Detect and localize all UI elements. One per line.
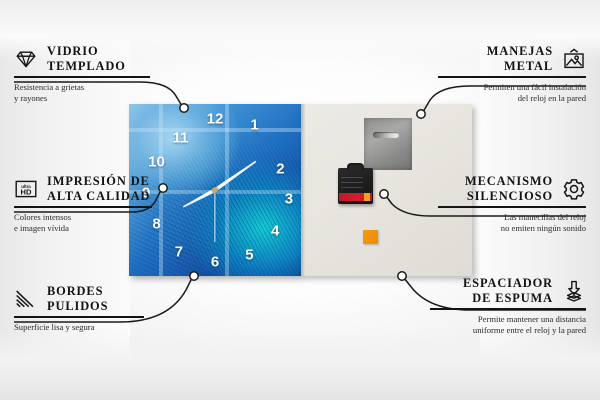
foam-spacer	[363, 230, 378, 244]
clock-numeral-6: 6	[211, 255, 219, 270]
callout-rule	[438, 76, 586, 78]
callout-title: ESPACIADOR DE ESPUMA	[463, 276, 553, 305]
background-bottom-shade	[0, 330, 600, 400]
callout-rule	[14, 76, 150, 78]
clock-numeral-1: 1	[250, 118, 258, 133]
callout-subtitle: Resistencia a grietas y rayones	[14, 82, 154, 105]
movement-label	[339, 193, 372, 201]
callout-mecanismo-silencioso: MECANISMO SILENCIOSO Las manecillas del …	[438, 174, 586, 235]
callout-rule	[430, 308, 586, 310]
metal-hanger-plate	[364, 118, 412, 170]
quartz-movement	[338, 168, 373, 204]
panel-edge	[301, 104, 305, 276]
clock-numeral-5: 5	[245, 248, 253, 263]
callout-title: MECANISMO SILENCIOSO	[465, 174, 553, 203]
movement-hook	[347, 163, 364, 170]
callout-title: BORDES PULIDOS	[47, 284, 108, 313]
callout-title: MANEJAS METAL	[487, 44, 553, 73]
framed-picture-hanger-icon	[562, 47, 586, 71]
callout-subtitle: Permite mantener una distancia uniforme …	[430, 314, 586, 337]
callout-vidrio-templado: VIDRIO TEMPLADO Resistencia a grietas y …	[14, 44, 154, 105]
clock-numeral-10: 10	[148, 155, 165, 170]
clock-numeral-2: 2	[276, 162, 284, 177]
diamond-icon	[14, 47, 38, 71]
ultra-hd-icon-large-text: HD	[21, 187, 32, 196]
gear-icon	[562, 177, 586, 201]
clock-numeral-11: 11	[173, 131, 189, 146]
callout-rule	[438, 206, 586, 208]
callout-subtitle: Superficie lisa y segura	[14, 322, 148, 334]
clock-numeral-7: 7	[175, 244, 183, 259]
callout-subtitle: Las manecillas del reloj no emiten ningú…	[438, 212, 586, 235]
movement-detail	[341, 187, 363, 188]
product-image: 12 1 2 3 4 5 6 7 8 9 10 11	[129, 104, 472, 276]
callout-rule	[14, 316, 144, 318]
hatched-edge-icon	[14, 287, 38, 311]
ultra-hd-icon: ultra HD	[14, 177, 38, 201]
callout-rule	[14, 206, 152, 208]
clock-numeral-4: 4	[271, 224, 279, 239]
callout-impresion-alta-calidad: ultra HD IMPRESIÓN DE ALTA CALIDAD Color…	[14, 174, 156, 235]
callout-bordes-pulidos: BORDES PULIDOS Superficie lisa y segura	[14, 284, 148, 333]
callout-title: IMPRESIÓN DE ALTA CALIDAD	[47, 174, 150, 203]
hanger-keyhole-slot	[373, 132, 399, 138]
clock-numeral-3: 3	[285, 191, 293, 206]
clock-center-cap	[212, 187, 218, 193]
infographic-stage: 12 1 2 3 4 5 6 7 8 9 10 11	[0, 0, 600, 400]
callout-subtitle: Colores intensos e imagen vívida	[14, 212, 156, 235]
callout-subtitle: Permiten una fácil instalación del reloj…	[438, 82, 586, 105]
callout-manejas-metal: MANEJAS METAL Permiten una fácil instala…	[438, 44, 586, 105]
clock-numeral-12: 12	[207, 112, 224, 127]
movement-detail	[341, 177, 363, 178]
movement-detail	[341, 182, 363, 183]
callout-espaciador-de-espuma: ESPACIADOR DE ESPUMA Permite mantener un…	[430, 276, 586, 337]
callout-title: VIDRIO TEMPLADO	[47, 44, 126, 73]
arrow-down-layers-icon	[562, 279, 586, 303]
